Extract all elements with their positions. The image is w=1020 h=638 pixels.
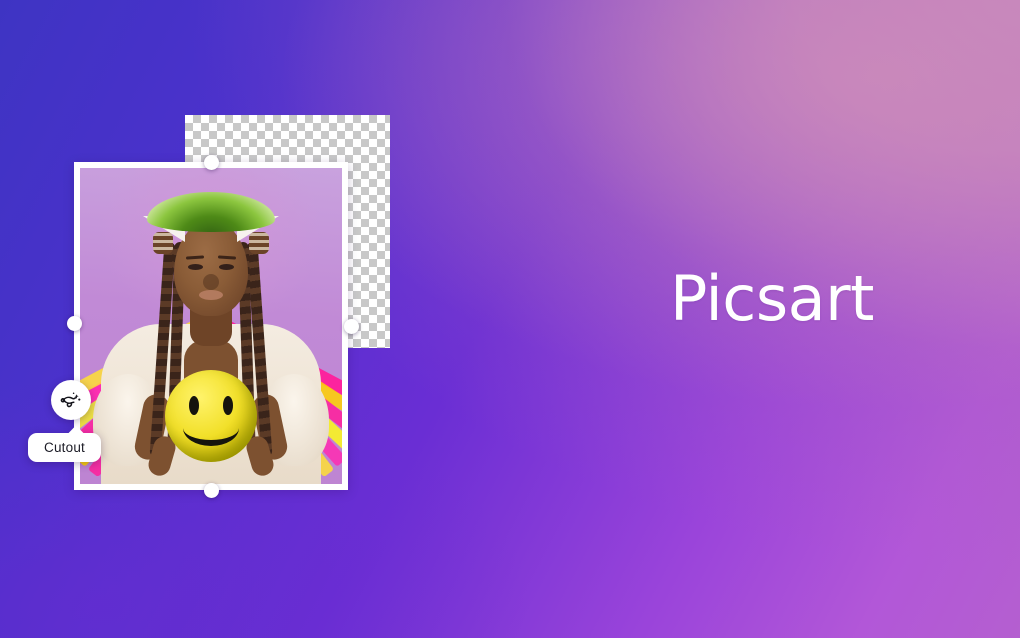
- cutout-tooltip: Cutout: [28, 433, 101, 462]
- hair-bead-right: [249, 232, 269, 254]
- face: [174, 220, 248, 316]
- handle-top-center[interactable]: [204, 155, 219, 170]
- cutout-magic-icon: [59, 388, 83, 412]
- cutout-tooltip-label: Cutout: [44, 440, 85, 455]
- hair-bead-left: [153, 232, 173, 254]
- smiley-ball: [165, 370, 257, 462]
- eyebrow-right: [218, 255, 236, 259]
- eyebrow-left: [186, 255, 204, 259]
- photo-content: [80, 168, 342, 484]
- smiley-mouth: [183, 410, 239, 446]
- cutout-tool-button[interactable]: [51, 380, 91, 420]
- model-photo-layer[interactable]: [74, 162, 348, 490]
- nose: [203, 274, 219, 290]
- app-canvas: Cutout Picsart: [0, 0, 1020, 638]
- handle-right-center[interactable]: [344, 319, 359, 334]
- lips: [199, 290, 223, 300]
- picsart-wordmark: Picsart: [670, 268, 874, 330]
- eye-left: [188, 264, 203, 270]
- handle-bottom-center[interactable]: [204, 483, 219, 498]
- handle-left-center[interactable]: [67, 316, 82, 331]
- eye-right: [219, 264, 234, 270]
